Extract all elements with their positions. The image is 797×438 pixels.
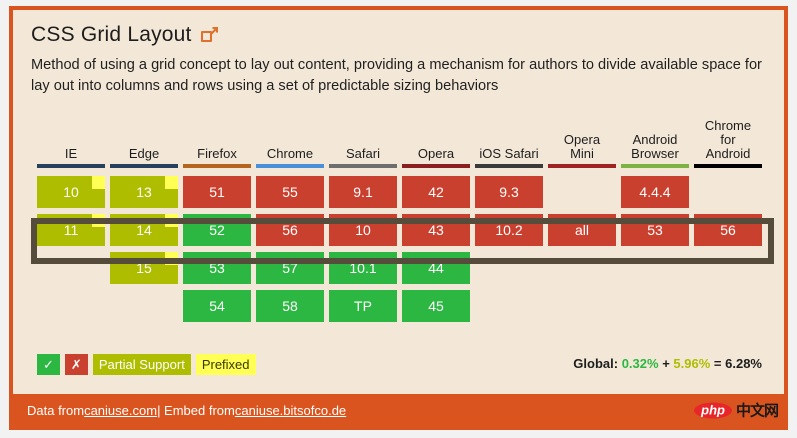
empty-cell (475, 290, 543, 322)
version-label: 44 (428, 260, 444, 276)
version-cell[interactable]: 45 (402, 290, 470, 322)
browser-version-column: 42434445 (402, 176, 470, 328)
browser-name-label: Safari (329, 118, 397, 164)
page-title: CSS Grid Layout (31, 23, 192, 47)
legend-partial-label: Partial Support (93, 354, 191, 375)
version-label: 10 (63, 184, 79, 200)
legend-supported-icon: ✓ (37, 354, 60, 375)
version-cell[interactable]: TP (329, 290, 397, 322)
browser-version-column: 1011 (37, 176, 105, 328)
watermark: php 中文网 (694, 400, 778, 421)
caniuse-embed-widget: CSS Grid Layout Method of using a grid c… (9, 6, 788, 430)
version-label: TP (354, 298, 372, 314)
empty-cell (548, 176, 616, 208)
version-cell[interactable]: 44 (402, 252, 470, 284)
browser-name-label: Firefox (183, 118, 251, 164)
version-cell[interactable]: 56 (256, 214, 324, 246)
support-grid: 101113141551525354555657589.11010.1TP424… (37, 176, 762, 328)
browser-version-column: 56 (694, 176, 762, 328)
footer-middle-text: | Embed from (157, 403, 235, 418)
version-cell[interactable]: 52 (183, 214, 251, 246)
browser-color-bar (329, 164, 397, 168)
browser-name-label: Edge (110, 118, 178, 164)
browser-name-label: Opera (402, 118, 470, 164)
browser-version-column: 9.11010.1TP (329, 176, 397, 328)
legend-prefixed-label: Prefixed (196, 354, 256, 375)
version-cell[interactable]: 43 (402, 214, 470, 246)
version-cell[interactable]: 11 (37, 214, 105, 246)
browser-color-bar (110, 164, 178, 168)
version-label: 52 (209, 222, 225, 238)
watermark-chinese-text: 中文网 (736, 400, 778, 421)
browser-column-header: Safari (329, 118, 397, 168)
global-full-support-pct: 0.32% (622, 356, 659, 371)
browser-column-header: Chrome for Android (694, 118, 762, 168)
version-cell[interactable]: 58 (256, 290, 324, 322)
global-partial-support-pct: 5.96% (673, 356, 710, 371)
browser-color-bar (694, 164, 762, 168)
prefixed-flag-icon (165, 214, 178, 227)
empty-cell (37, 290, 105, 322)
browser-name-label: Android Browser (621, 118, 689, 164)
browser-color-bar (402, 164, 470, 168)
version-label: 45 (428, 298, 444, 314)
version-label: 51 (209, 184, 225, 200)
watermark-php-logo: php (694, 402, 732, 418)
version-label: 58 (282, 298, 298, 314)
legend: ✓ ✗ Partial Support Prefixed (37, 354, 256, 375)
version-label: 55 (282, 184, 298, 200)
version-cell[interactable]: all (548, 214, 616, 246)
version-label: 14 (136, 222, 152, 238)
footer-bar: Data from caniuse.com | Embed from caniu… (13, 394, 784, 426)
empty-cell (548, 290, 616, 322)
empty-cell (621, 290, 689, 322)
browser-column-header: Opera (402, 118, 470, 168)
global-usage-stats: Global: 0.32% + 5.96% = 6.28% (573, 356, 762, 371)
version-label: 9.3 (499, 184, 518, 200)
global-label: Global: (573, 356, 618, 371)
browser-column-header: Firefox (183, 118, 251, 168)
version-label: 56 (282, 222, 298, 238)
empty-cell (110, 290, 178, 322)
legend-unsupported-icon: ✗ (65, 354, 88, 375)
version-label: 53 (209, 260, 225, 276)
browser-name-label: IE (37, 118, 105, 164)
browser-name-label: Chrome (256, 118, 324, 164)
version-label: 56 (720, 222, 736, 238)
external-link-icon[interactable] (201, 27, 218, 44)
empty-cell (694, 176, 762, 208)
version-cell[interactable]: 57 (256, 252, 324, 284)
title-row: CSS Grid Layout (31, 23, 766, 47)
version-cell[interactable]: 53 (621, 214, 689, 246)
widget-body: CSS Grid Layout Method of using a grid c… (13, 10, 784, 394)
version-label: 10.1 (349, 260, 376, 276)
version-cell[interactable]: 10.2 (475, 214, 543, 246)
global-total-pct: 6.28% (725, 356, 762, 371)
empty-cell (548, 252, 616, 284)
version-label: 9.1 (353, 184, 372, 200)
version-label: all (575, 222, 589, 238)
version-label: 10 (355, 222, 371, 238)
version-label: 13 (136, 184, 152, 200)
version-cell[interactable]: 56 (694, 214, 762, 246)
version-cell[interactable]: 10 (329, 214, 397, 246)
browser-name-label: iOS Safari (475, 118, 543, 164)
browser-version-column: 131415 (110, 176, 178, 328)
browser-column-header: Edge (110, 118, 178, 168)
browser-version-column: 51525354 (183, 176, 251, 328)
browser-version-column: 4.4.453 (621, 176, 689, 328)
version-label: 57 (282, 260, 298, 276)
version-label: 15 (136, 260, 152, 276)
empty-cell (475, 252, 543, 284)
browser-column-header: Opera Mini (548, 118, 616, 168)
browser-color-bar (548, 164, 616, 168)
embed-source-link[interactable]: caniuse.bitsofco.de (235, 403, 346, 418)
version-cell[interactable]: 53 (183, 252, 251, 284)
version-cell[interactable]: 10 (37, 176, 105, 208)
browser-name-label: Chrome for Android (694, 118, 762, 164)
version-cell[interactable]: 14 (110, 214, 178, 246)
browser-color-bar (37, 164, 105, 168)
browser-header-row: IEEdgeFirefoxChromeSafariOperaiOS Safari… (37, 118, 762, 168)
empty-cell (37, 252, 105, 284)
version-label: 11 (64, 222, 79, 238)
version-label: 43 (428, 222, 444, 238)
prefixed-flag-icon (165, 176, 178, 189)
version-cell[interactable]: 54 (183, 290, 251, 322)
empty-cell (694, 252, 762, 284)
browser-column-header: Chrome (256, 118, 324, 168)
browser-column-header: iOS Safari (475, 118, 543, 168)
browser-version-column: 55565758 (256, 176, 324, 328)
version-cell[interactable]: 15 (110, 252, 178, 284)
version-cell[interactable]: 4.4.4 (621, 176, 689, 208)
version-label: 4.4.4 (639, 184, 670, 200)
global-plus-sign: + (662, 356, 670, 371)
empty-cell (621, 252, 689, 284)
browser-version-column: 9.310.2 (475, 176, 543, 328)
caniuse-link[interactable]: caniuse.com (84, 403, 157, 418)
browser-color-bar (183, 164, 251, 168)
browser-column-header: Android Browser (621, 118, 689, 168)
version-label: 54 (209, 298, 225, 314)
browser-column-header: IE (37, 118, 105, 168)
empty-cell (694, 290, 762, 322)
version-cell[interactable]: 51 (183, 176, 251, 208)
version-cell[interactable]: 10.1 (329, 252, 397, 284)
version-cell[interactable]: 42 (402, 176, 470, 208)
version-cell[interactable]: 9.3 (475, 176, 543, 208)
version-cell[interactable]: 13 (110, 176, 178, 208)
browser-color-bar (475, 164, 543, 168)
prefixed-flag-icon (92, 214, 105, 227)
browser-color-bar (256, 164, 324, 168)
browser-version-column: all (548, 176, 616, 328)
feature-description: Method of using a grid concept to lay ou… (31, 55, 766, 97)
version-label: 10.2 (495, 222, 522, 238)
footer-prefix-text: Data from (27, 403, 84, 418)
version-cell[interactable]: 55 (256, 176, 324, 208)
version-label: 42 (428, 184, 444, 200)
version-cell[interactable]: 9.1 (329, 176, 397, 208)
prefixed-flag-icon (92, 176, 105, 189)
global-equals-sign: = (714, 356, 722, 371)
browser-name-label: Opera Mini (548, 118, 616, 164)
version-label: 53 (647, 222, 663, 238)
external-link-arrow (209, 27, 218, 36)
prefixed-flag-icon (165, 252, 178, 265)
browser-color-bar (621, 164, 689, 168)
